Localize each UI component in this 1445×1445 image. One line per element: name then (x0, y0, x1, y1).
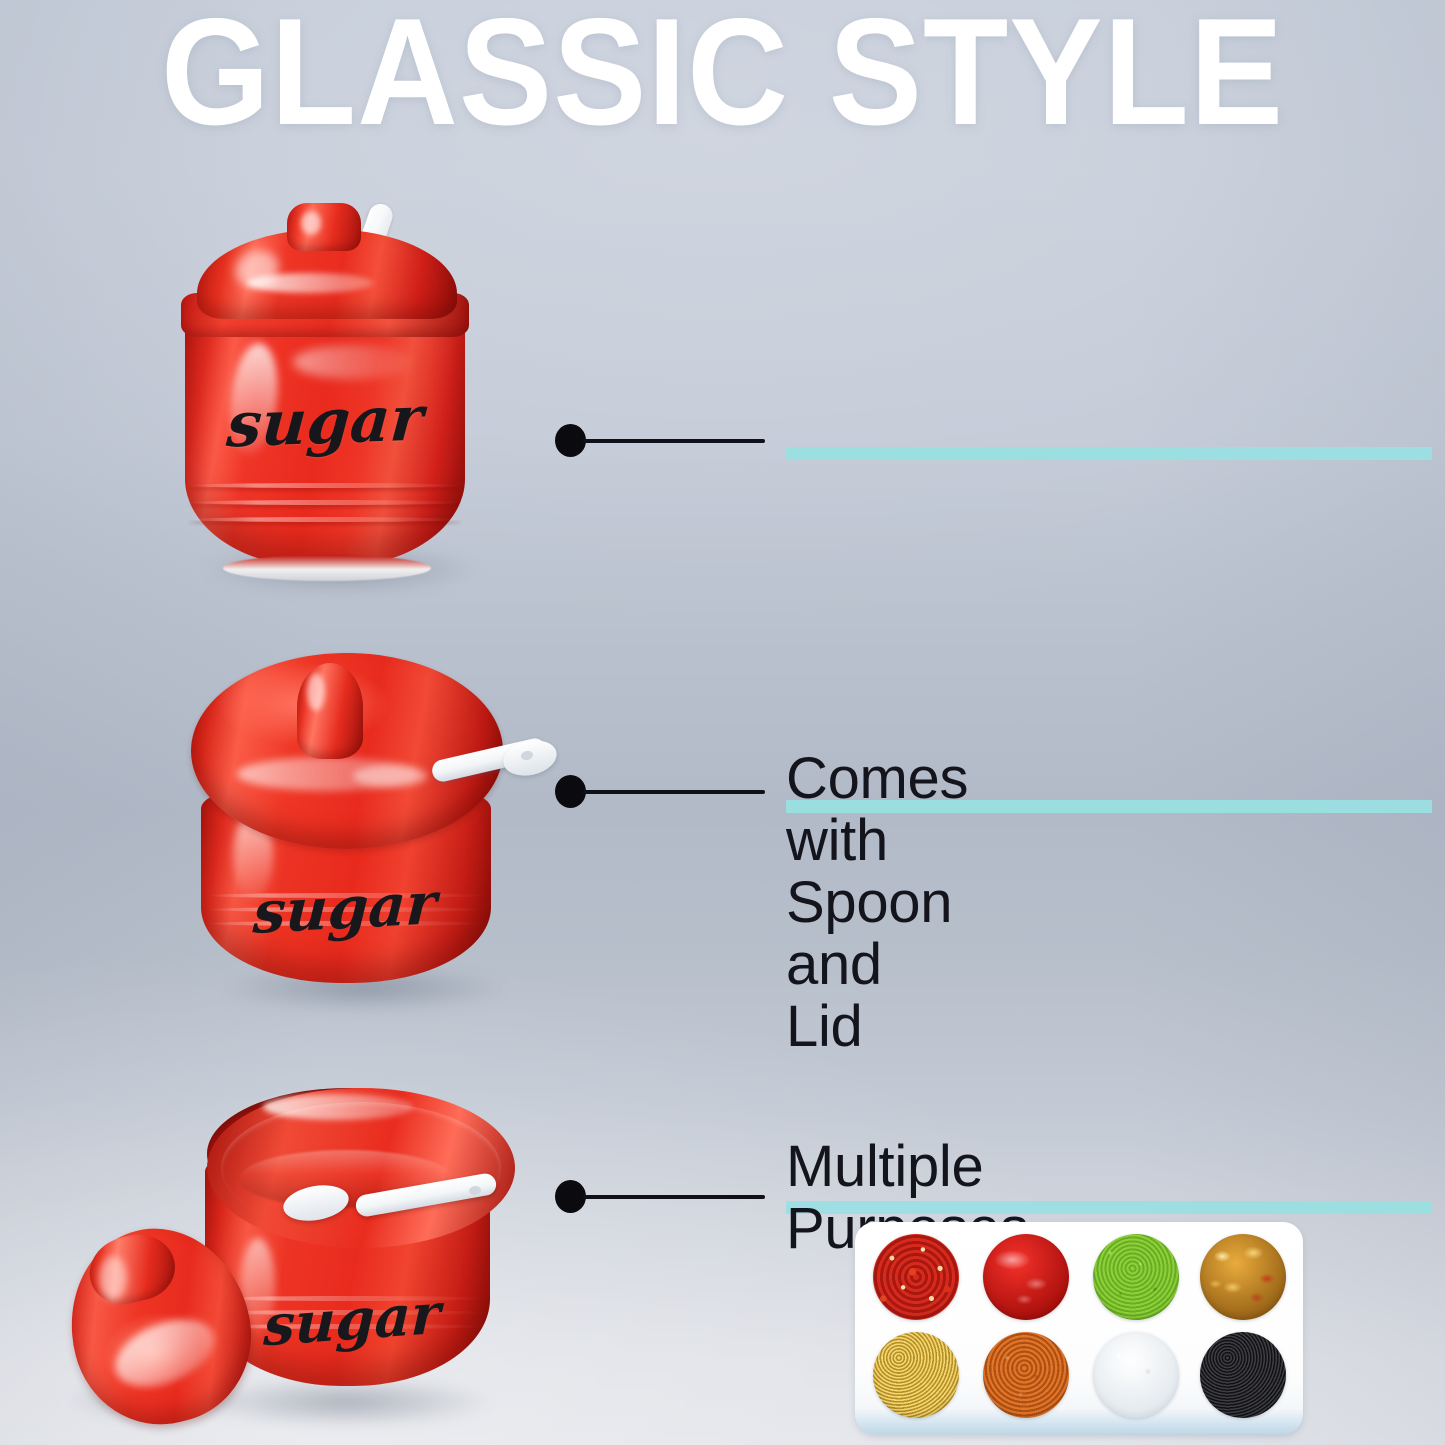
jar-lid-knob (297, 663, 363, 759)
jar-label-text: sugar (223, 387, 427, 456)
knob-highlight (307, 673, 325, 711)
spice-well-black-sesame (1200, 1332, 1286, 1418)
rim-highlight (263, 1094, 413, 1120)
spice-well-red-sauce (983, 1234, 1069, 1320)
jar-ridge (189, 483, 461, 488)
page-title: GLASSIC STYLE (58, 2, 1387, 142)
infographic-canvas: GLASSIC STYLE sugar sugar (0, 0, 1445, 1445)
callout-leader-line (583, 1195, 765, 1199)
callout-dot-icon (555, 775, 586, 808)
callout-dot-icon (555, 424, 586, 457)
body-highlight-secondary (293, 345, 413, 379)
product-image-jar-open: sugar (55, 1060, 525, 1440)
spice-well-chili-flakes (873, 1234, 959, 1320)
callout-leader-line (583, 439, 765, 443)
callout-dot-icon (555, 1180, 586, 1213)
spice-well-green-powder (1093, 1234, 1179, 1320)
jar-label-text: sugar (234, 873, 457, 943)
callout-highlight-bar (786, 447, 1432, 460)
jar-base (223, 555, 431, 581)
jar-ridge (189, 517, 461, 522)
jar-lid-knob (287, 203, 361, 251)
detached-lid-knob-highlight (99, 1256, 127, 1300)
lid-highlight-secondary (353, 765, 427, 787)
product-image-jar-closed-front: sugar (175, 195, 535, 595)
jar-label-text: sugar (236, 1284, 467, 1356)
callout-leader-line (583, 790, 765, 794)
knob-highlight (301, 211, 321, 235)
spice-sampler-tray (855, 1222, 1303, 1434)
spice-well-white-salt (1093, 1332, 1179, 1418)
spice-well-yellow-seeds (873, 1332, 959, 1418)
spice-well-dried-chili (1200, 1234, 1286, 1320)
product-image-jar-closed-angle: sugar (185, 645, 575, 1025)
spice-well-orange-powder (983, 1332, 1069, 1418)
jar-ridge (189, 500, 461, 505)
